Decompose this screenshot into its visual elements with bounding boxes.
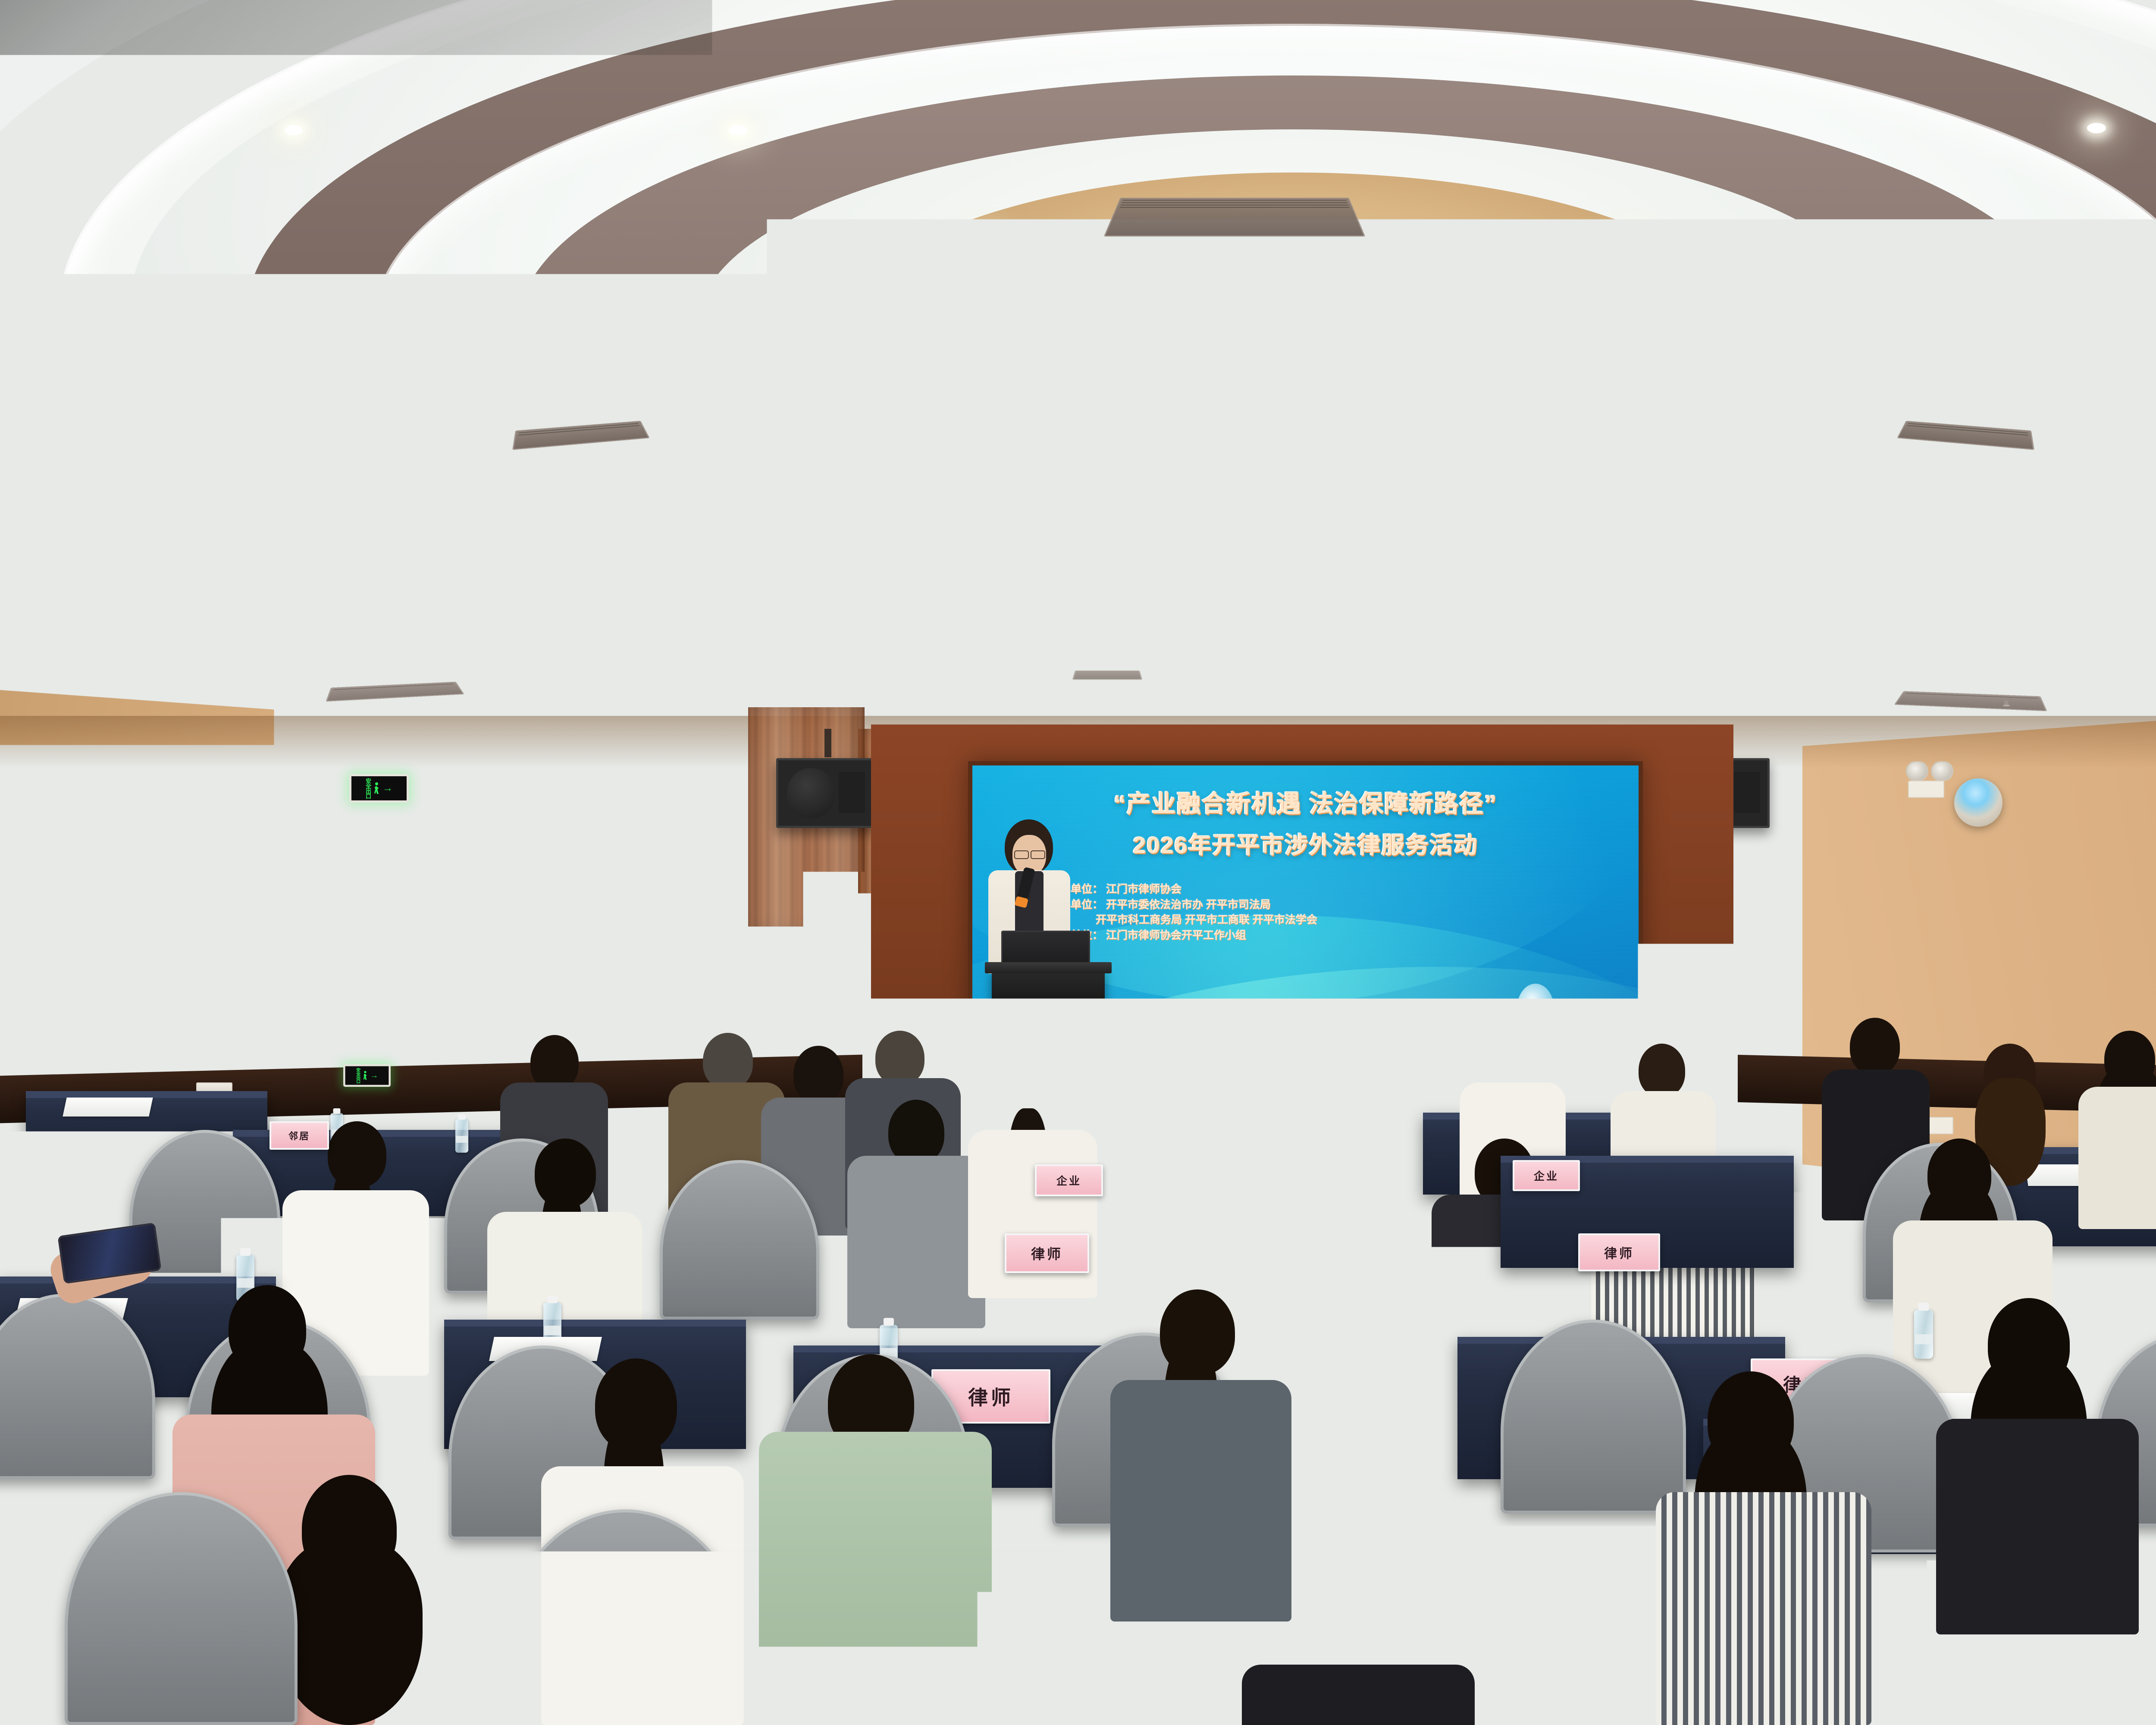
screen-subtitle: 2026年开平市涉外法律服务活动 — [972, 826, 1639, 860]
running-man-icon — [373, 782, 380, 794]
handout-paper — [63, 1098, 153, 1117]
nameplate-enterprise-right: 企业 — [1513, 1160, 1580, 1191]
sprinkler-head — [1553, 614, 1558, 620]
attendee-head — [793, 1046, 843, 1104]
soda-can — [2083, 1000, 2093, 1018]
soda-can — [2122, 1000, 2132, 1018]
exit-arrow-icon: → — [370, 1072, 378, 1079]
downlight — [975, 235, 993, 245]
downlight — [1912, 479, 1928, 487]
air-vent — [1072, 671, 1143, 680]
nameplate-lawyer-mid-right: 律师 — [1578, 1233, 1660, 1271]
downlight — [2022, 707, 2036, 715]
downlight — [1623, 235, 1642, 245]
speaker-mount-left — [824, 729, 831, 757]
sprinkler-head — [2004, 700, 2009, 706]
screen-title: “产业融合新机遇 法治保障新路径” — [972, 784, 1639, 819]
attendee-hair — [276, 1540, 423, 1725]
downlight — [2087, 123, 2106, 133]
nameplate-enterprise-left: 企业 — [1035, 1164, 1103, 1196]
paper-cup — [2106, 1021, 2118, 1036]
attendee-head — [888, 1100, 944, 1164]
organizer-line-undertaker: 承办单位： 江门市律师协会开平工作小组 — [1049, 928, 1613, 944]
chandelier — [1056, 466, 1531, 638]
emergency-light-pair — [1906, 761, 1958, 780]
soda-can — [2070, 1000, 2080, 1018]
downlight — [666, 623, 682, 632]
screen-orb-large — [1517, 984, 1554, 1034]
downlight — [112, 660, 127, 668]
sprinkler-head — [686, 561, 692, 569]
attendee-head — [875, 1031, 924, 1085]
water-bottle — [1914, 1310, 1933, 1358]
attendee-body — [1242, 1665, 1475, 1725]
wall-outlet-plate — [1927, 1117, 1953, 1134]
air-vent — [1104, 198, 1366, 236]
presenter-glasses — [1014, 850, 1045, 857]
attendee-body — [2078, 1087, 2156, 1229]
water-bottle — [455, 1119, 468, 1153]
sprinkler-head — [429, 354, 436, 363]
downlight — [1677, 707, 1691, 715]
pa-speaker-left — [776, 758, 874, 828]
dome-mirror — [1954, 778, 2002, 827]
handout-paper — [708, 1682, 887, 1721]
downlight — [1755, 643, 1770, 650]
nameplate-neighbor-left: 邻居 — [269, 1121, 329, 1150]
exit-sign-left-lower: 安全出口 → — [343, 1064, 391, 1087]
soda-can — [2096, 1000, 2106, 1017]
conference-hall-photo: 安全出口 → 安全出口 → “产业融合新机遇 法治保障新路径” 2026年开平市… — [0, 0, 2156, 1725]
exit-arrow-icon: → — [382, 783, 393, 793]
podium — [992, 968, 1105, 1050]
attendee-body — [1110, 1380, 1291, 1621]
exit-sign-label: 安全出口 — [356, 1068, 360, 1083]
attendee-head — [530, 1035, 579, 1090]
organizer-line-host-cont: 开平市科工商务局 开平市工商联 开平市法学会 — [1049, 913, 1613, 928]
chandelier-tier-4 — [1229, 590, 1358, 626]
downlight — [2106, 319, 2124, 329]
podium-side-light — [970, 1035, 1004, 1113]
attendee-head — [703, 1033, 753, 1089]
podium-top — [985, 962, 1112, 973]
attendee-body — [1656, 1492, 1871, 1725]
attendee-head — [1488, 1035, 1535, 1089]
screen-organizers: 指导单位： 江门市律师协会 主办单位： 开平市委依法治市办 开平市司法局 开平市… — [1049, 882, 1613, 943]
soda-can — [2134, 1000, 2145, 1018]
soda-can — [2109, 1000, 2119, 1017]
screen-date: 2026年4月11日 — [972, 1061, 1639, 1080]
downlight — [1160, 645, 1175, 652]
downlight — [285, 125, 303, 135]
organizer-line-host: 主办单位： 开平市委依法治市办 开平市司法局 — [1049, 897, 1613, 913]
attendee-head — [1639, 1044, 1685, 1097]
running-man-icon — [362, 1071, 368, 1080]
organizer-line-guidance: 指导单位： 江门市律师协会 — [1049, 882, 1613, 897]
wall-info-plate — [1908, 781, 1944, 798]
downlight — [729, 125, 748, 135]
attendee-body — [847, 1156, 985, 1328]
exit-sign-label: 安全出口 — [365, 778, 371, 799]
downlight — [671, 479, 686, 487]
exit-sign-left: 安全出口 → — [349, 774, 409, 803]
downlight — [479, 315, 496, 324]
table-row — [1846, 1570, 2156, 1725]
nameplate-lawyer-mid-left: 律师 — [1005, 1233, 1089, 1273]
chandelier-beads-4 — [1253, 626, 1335, 641]
